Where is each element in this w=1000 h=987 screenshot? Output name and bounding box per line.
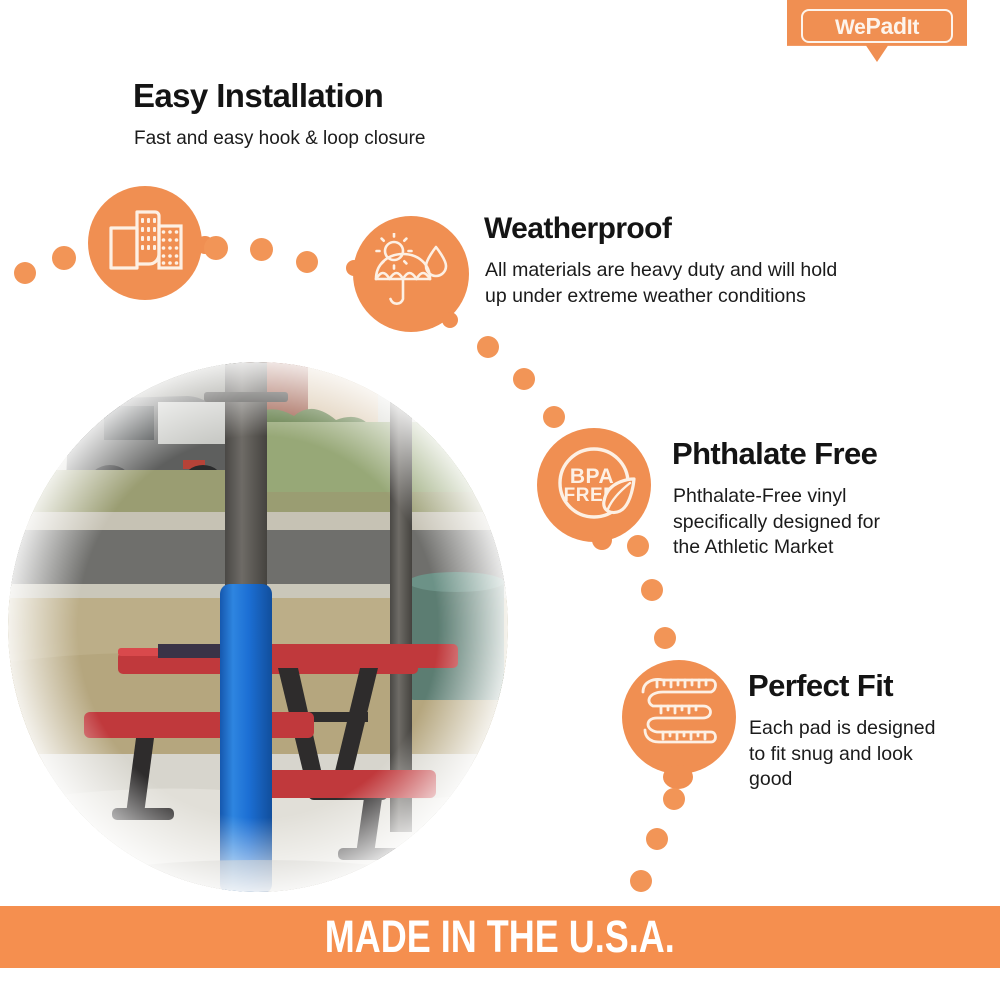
feature-title-weatherproof: Weatherproof bbox=[484, 213, 671, 245]
trail-dot bbox=[204, 236, 228, 260]
feature-desc-easy-installation: Fast and easy hook & loop closure bbox=[134, 126, 554, 151]
logo-word-pad: Pad bbox=[866, 13, 907, 39]
feature-title-perfect-fit: Perfect Fit bbox=[748, 670, 893, 703]
circle-nub bbox=[346, 260, 362, 276]
feature-desc-weatherproof: All materials are heavy duty and will ho… bbox=[485, 258, 905, 309]
feature-desc-phthalate-free-line3: the Athletic Market bbox=[673, 536, 833, 558]
infographic-page: WePadIt Easy Installation Fast and easy … bbox=[0, 0, 1000, 987]
logo-wordmark: WePadIt bbox=[835, 15, 919, 38]
feature-desc-perfect-fit-line1: Each pad is designed bbox=[749, 717, 935, 739]
trail-dot bbox=[296, 251, 318, 273]
product-photo bbox=[8, 362, 508, 892]
circle-nub bbox=[442, 312, 458, 328]
trail-dot bbox=[654, 627, 676, 649]
trail-dot bbox=[513, 368, 535, 390]
trail-dot bbox=[477, 336, 499, 358]
feature-title-easy-installation: Easy Installation bbox=[133, 79, 383, 114]
trail-dot bbox=[627, 535, 649, 557]
made-in-usa-banner: MADE IN THE U.S.A. bbox=[0, 906, 1000, 968]
feature-desc-phthalate-free-line1: Phthalate-Free vinyl bbox=[673, 485, 846, 507]
trail-dot bbox=[52, 246, 76, 270]
made-in-usa-text: MADE IN THE U.S.A. bbox=[325, 911, 675, 963]
sun-umbrella-raindrop-icon bbox=[370, 233, 452, 316]
trail-dot bbox=[14, 262, 36, 284]
brand-logo: WePadIt bbox=[787, 0, 967, 62]
trail-dot bbox=[630, 870, 652, 892]
feature-desc-phthalate-free: Phthalate-Free vinyl specifically design… bbox=[673, 484, 973, 561]
circle-nub bbox=[592, 530, 612, 550]
logo-word-it: It bbox=[907, 16, 919, 39]
feature-desc-weatherproof-line1: All materials are heavy duty and will ho… bbox=[485, 259, 837, 281]
feature-title-phthalate-free: Phthalate Free bbox=[672, 438, 877, 471]
trail-dot bbox=[646, 828, 668, 850]
feature-icon-circle-perfect-fit bbox=[622, 660, 736, 774]
trail-dot bbox=[641, 579, 663, 601]
hook-and-loop-strap-icon bbox=[107, 206, 183, 281]
feature-desc-perfect-fit-line3: good bbox=[749, 768, 792, 790]
feature-icon-circle-easy-installation bbox=[88, 186, 202, 300]
feature-desc-phthalate-free-line2: specifically designed for bbox=[673, 511, 880, 533]
feature-desc-perfect-fit: Each pad is designed to fit snug and loo… bbox=[749, 716, 989, 793]
logo-outline-box: WePadIt bbox=[801, 9, 953, 43]
feature-icon-circle-phthalate-free: BPA FREE bbox=[537, 428, 651, 542]
measuring-tape-icon bbox=[637, 674, 721, 761]
feature-desc-weatherproof-line2: up under extreme weather conditions bbox=[485, 285, 806, 307]
feature-desc-perfect-fit-line2: to fit snug and look bbox=[749, 743, 913, 765]
logo-word-we: We bbox=[835, 16, 866, 39]
trail-dot bbox=[543, 406, 565, 428]
bpa-free-leaf-icon: BPA FREE bbox=[542, 431, 646, 540]
trail-dot bbox=[250, 238, 273, 261]
trail-dot bbox=[663, 788, 685, 810]
circle-nub bbox=[663, 765, 693, 789]
